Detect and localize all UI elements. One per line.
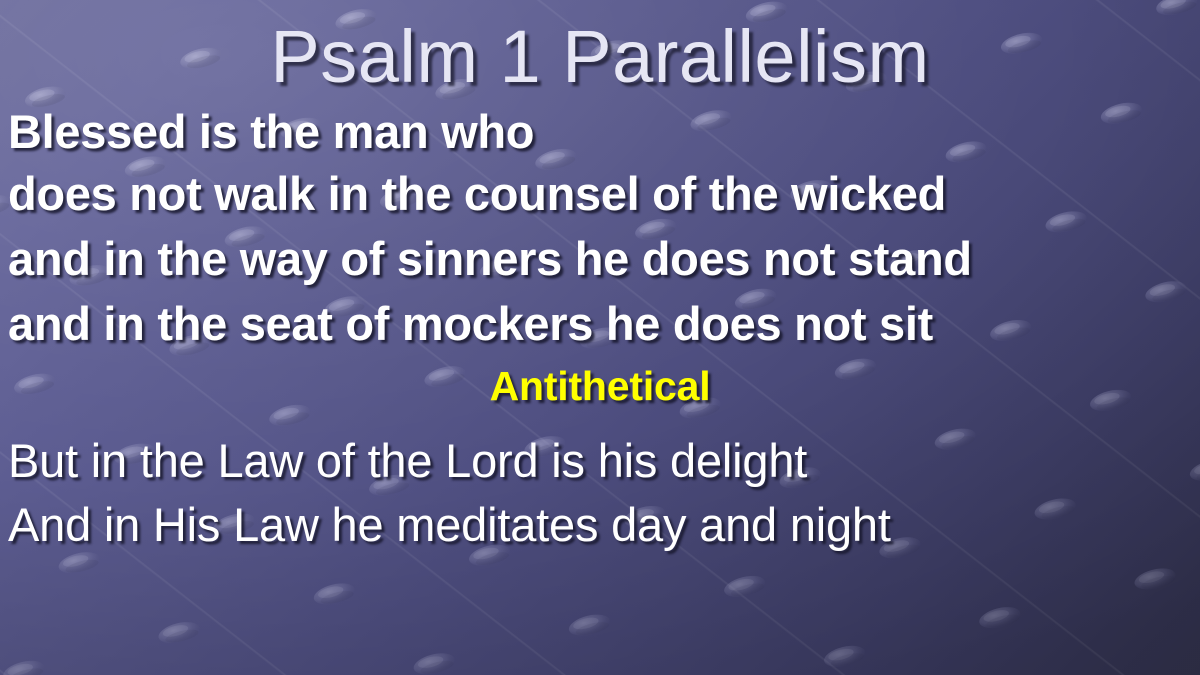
stanza-one-line-1: Blessed is the man who <box>0 108 534 155</box>
stanza-one-line-4: and in the seat of mockers he does not s… <box>0 300 933 347</box>
parallelism-type-label: Antithetical <box>0 366 1200 407</box>
page-title: Psalm 1 Parallelism <box>0 20 1200 94</box>
stanza-two-line-2: And in His Law he meditates day and nigh… <box>0 501 891 548</box>
stanza-two-line-1: But in the Law of the Lord is his deligh… <box>0 437 807 484</box>
stanza-one-line-3: and in the way of sinners he does not st… <box>0 235 972 282</box>
slide-content: Psalm 1 Parallelism Blessed is the man w… <box>0 0 1200 675</box>
stanza-one-line-2: does not walk in the counsel of the wick… <box>0 170 946 217</box>
presentation-slide: Psalm 1 Parallelism Blessed is the man w… <box>0 0 1200 675</box>
